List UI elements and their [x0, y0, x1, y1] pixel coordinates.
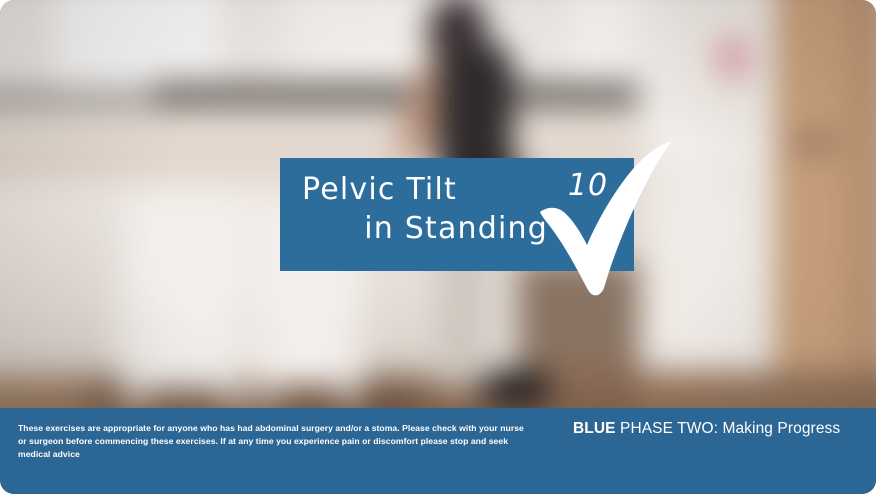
wooden-door [776, 0, 876, 415]
exercise-title-card: Pelvic Tilt in Standing 10 [280, 158, 634, 271]
exercise-title: Pelvic Tilt in Standing [294, 170, 552, 248]
disclaimer-text: These exercises are appropriate for anyo… [18, 422, 528, 461]
video-frame[interactable]: Pelvic Tilt in Standing 10 These exercis… [0, 0, 876, 494]
person-shoe [482, 371, 550, 404]
pink-object [715, 36, 750, 80]
stool-left-leg-b [227, 305, 241, 410]
phase-description: PHASE TWO: Making Progress [616, 420, 841, 437]
door-handle [792, 138, 836, 148]
bottom-info-bar: These exercises are appropriate for anyo… [0, 408, 876, 494]
stool-right-leg-b [343, 312, 356, 409]
phase-brand: BLUE [573, 420, 616, 437]
stool-right-leg-a [260, 312, 273, 409]
exercise-title-line-2: in Standing [294, 209, 552, 248]
stool-left-leg-a [128, 305, 142, 410]
exercise-title-line-1: Pelvic Tilt [294, 170, 552, 209]
phase-label: BLUE PHASE TWO: Making Progress [573, 420, 840, 438]
rep-count: 10 [558, 168, 618, 203]
